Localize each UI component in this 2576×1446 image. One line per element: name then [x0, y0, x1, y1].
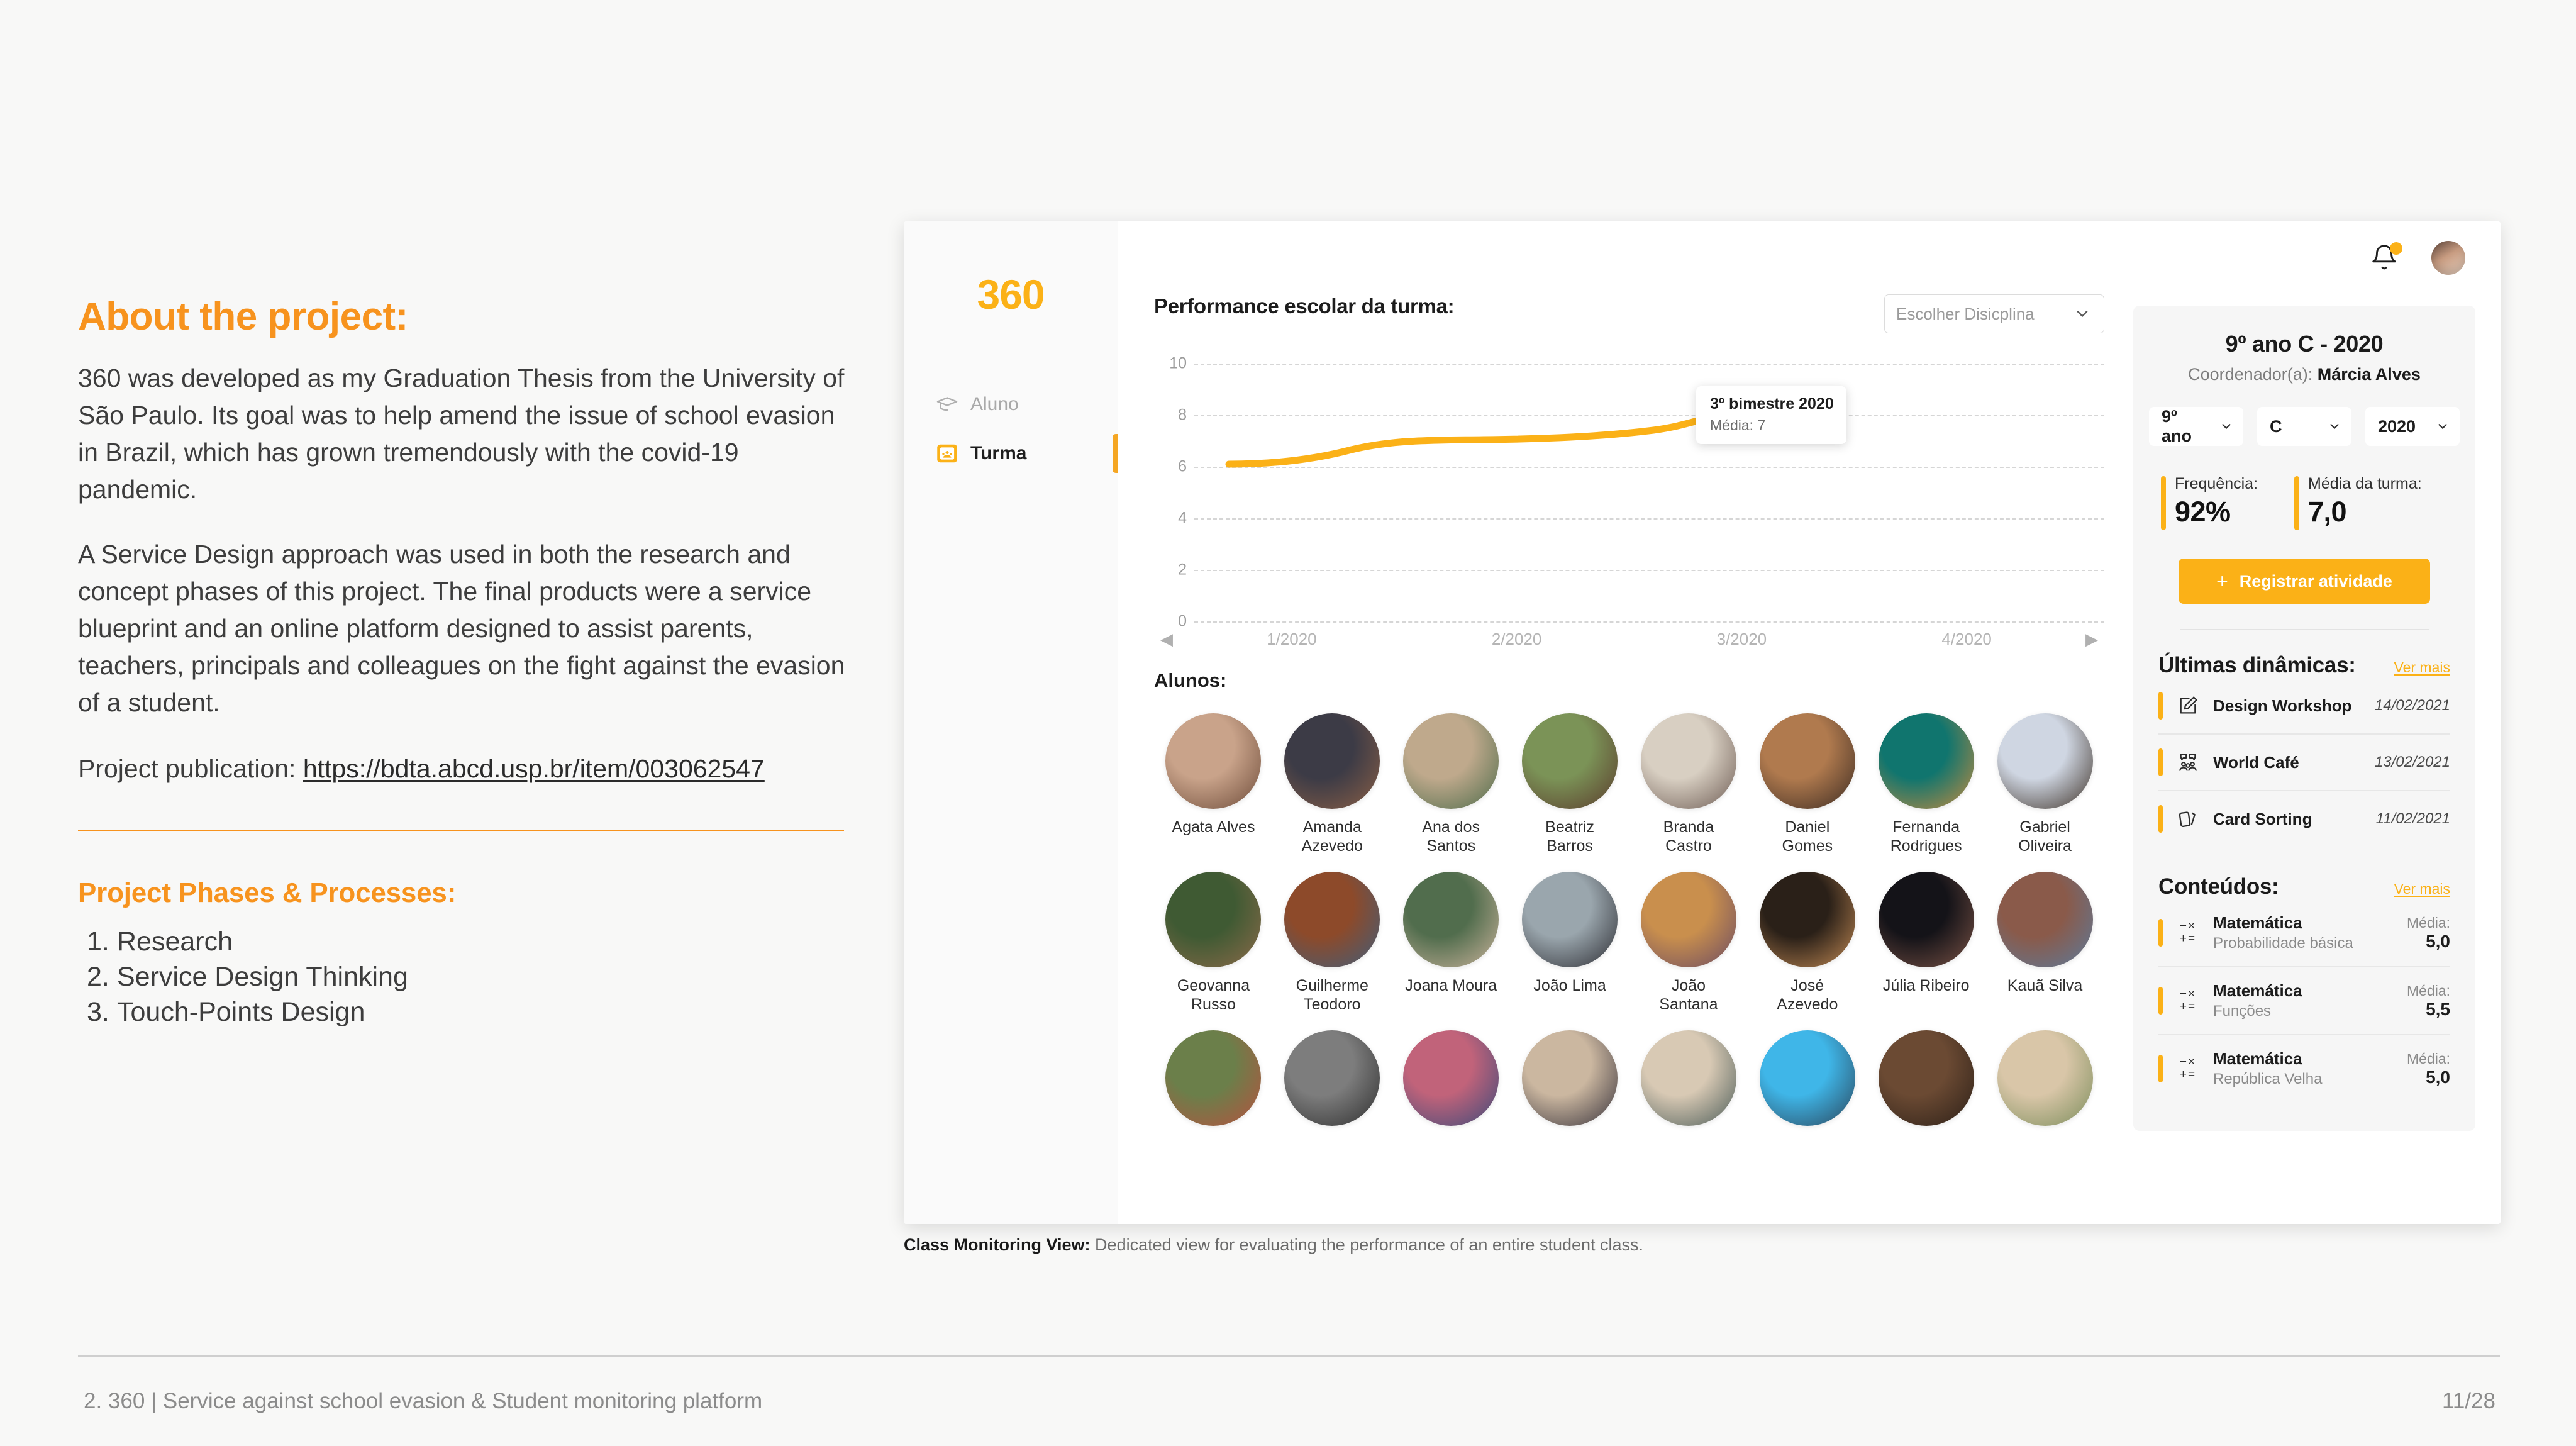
content-main: Matemática Probabilidade básica	[2213, 913, 2396, 952]
coordinator-name: Márcia Alves	[2318, 365, 2421, 384]
student-card[interactable]	[1511, 1030, 1629, 1135]
student-avatar	[1879, 872, 1974, 967]
performance-chart: 10 8 6 4 2 0	[1154, 360, 2104, 655]
stat-value: 92%	[2175, 496, 2258, 528]
dynamics-see-more-link[interactable]: Ver mais	[2394, 659, 2450, 676]
contents-block: Conteúdos: Ver mais −×+= Matemática Prob…	[2158, 847, 2450, 1102]
class-letter-select[interactable]: C	[2257, 407, 2351, 446]
student-avatar	[1760, 713, 1855, 809]
chart-title: Performance escolar da turma:	[1154, 294, 1454, 318]
publication-line: Project publication: https://bdta.abcd.u…	[78, 750, 858, 787]
student-avatar	[1403, 1030, 1499, 1126]
x-tick-label: 2/2020	[1404, 630, 1629, 649]
chevron-down-icon	[2436, 420, 2450, 433]
student-card[interactable]: Beatriz Barros	[1511, 713, 1629, 855]
average-label: Média:	[2407, 1050, 2450, 1067]
chart-x-axis: ◀ 1/2020 2/2020 3/2020 4/2020 ▶	[1154, 623, 2104, 655]
list-item[interactable]: −×+= Matemática Funções Média: 5,5	[2158, 967, 2450, 1035]
student-name: Branda Castro	[1641, 818, 1736, 855]
list-item[interactable]: Design Workshop 14/02/2021	[2158, 678, 2450, 735]
student-card[interactable]: Júlia Ribeiro	[1867, 872, 1985, 1014]
student-card[interactable]: Ana dos Santos	[1392, 713, 1511, 855]
dynamic-date: 14/02/2021	[2375, 697, 2450, 715]
student-card[interactable]	[1985, 1030, 2104, 1135]
student-avatar	[1641, 713, 1736, 809]
contents-header: Conteúdos: Ver mais	[2158, 874, 2450, 899]
student-avatar	[1760, 872, 1855, 967]
student-name: Kauã Silva	[2007, 976, 2083, 995]
tooltip-title: 3º bimestre 2020	[1710, 395, 1834, 413]
student-card[interactable]: José Azevedo	[1748, 872, 1867, 1014]
list-item-number: 3.	[87, 994, 109, 1030]
student-name: Agata Alves	[1172, 818, 1255, 837]
list-item: 1.Research	[78, 924, 858, 959]
student-avatar	[1997, 872, 2093, 967]
about-paragraph-1: 360 was developed as my Graduation Thesi…	[78, 360, 858, 508]
student-name: Guilherme Teodoro	[1285, 976, 1379, 1014]
app-content: Performance escolar da turma: Escolher D…	[1118, 294, 2501, 1135]
student-card[interactable]: Fernanda Rodrigues	[1867, 713, 1985, 855]
list-item: 2.Service Design Thinking	[78, 959, 858, 994]
chart-prev-button[interactable]: ◀	[1154, 630, 1179, 649]
y-axis-labels: 10 8 6 4 2 0	[1154, 360, 1187, 624]
group-chat-icon	[2174, 748, 2202, 776]
about-paragraph-2: A Service Design approach was used in bo…	[78, 536, 858, 721]
content-subject: Matemática	[2213, 1049, 2302, 1068]
figure-caption: Class Monitoring View: Dedicated view fo…	[904, 1235, 1643, 1255]
list-item[interactable]: −×+= Matemática Probabilidade básica Méd…	[2158, 899, 2450, 967]
x-axis-ticks: 1/2020 2/2020 3/2020 4/2020	[1179, 630, 2079, 649]
year-select[interactable]: 2020	[2365, 407, 2460, 446]
average-value: 5,5	[2426, 999, 2450, 1019]
stat-frequencia: Frequência: 92%	[2161, 475, 2258, 528]
content-main: Matemática República Velha	[2213, 1049, 2396, 1088]
row-accent-bar	[2158, 748, 2163, 776]
x-tick-label: 3/2020	[1629, 630, 1855, 649]
student-avatar	[1641, 1030, 1736, 1126]
student-name: João Lima	[1533, 976, 1606, 995]
register-activity-label: Registrar atividade	[2240, 572, 2392, 591]
stat-value: 7,0	[2308, 496, 2422, 528]
coordinator-label: Coordenador(a):	[2188, 365, 2312, 384]
list-item[interactable]: World Café 13/02/2021	[2158, 735, 2450, 791]
list-item-number: 2.	[87, 959, 109, 994]
student-name: Joana Moura	[1405, 976, 1497, 995]
avatar[interactable]	[2431, 241, 2465, 275]
student-avatar	[1641, 872, 1736, 967]
student-card[interactable]: Gabriel Oliveira	[1985, 713, 2104, 855]
row-accent-bar	[2158, 987, 2163, 1015]
graduation-cap-icon	[935, 392, 959, 416]
row-accent-bar	[2158, 1055, 2163, 1082]
class-coordinator: Coordenador(a): Márcia Alves	[2158, 365, 2450, 384]
list-item: 3.Touch-Points Design	[78, 994, 858, 1030]
dynamics-heading: Últimas dinâmicas:	[2158, 653, 2356, 678]
pencil-square-icon	[2174, 692, 2202, 720]
student-avatar	[1522, 713, 1618, 809]
chevron-down-icon	[2074, 305, 2091, 323]
student-avatar	[1879, 713, 1974, 809]
student-avatar	[1284, 872, 1380, 967]
student-card[interactable]	[1154, 1030, 1273, 1135]
register-activity-button[interactable]: + Registrar atividade	[2179, 559, 2430, 604]
student-avatar	[1997, 1030, 2093, 1126]
class-letter-select-value: C	[2270, 417, 2282, 437]
student-avatar	[1522, 872, 1618, 967]
student-avatar	[1760, 1030, 1855, 1126]
dynamics-header: Últimas dinâmicas: Ver mais	[2158, 653, 2450, 678]
chart-next-button[interactable]: ▶	[2079, 630, 2104, 649]
chart-tooltip: 3º bimestre 2020 Média: 7	[1696, 386, 1846, 444]
student-card[interactable]: Guilherme Teodoro	[1273, 872, 1392, 1014]
student-card[interactable]	[1629, 1030, 1748, 1135]
student-name: Daniel Gomes	[1760, 818, 1855, 855]
list-item-label: Service Design Thinking	[117, 962, 408, 992]
list-item-label: Touch-Points Design	[117, 997, 365, 1027]
student-avatar	[1403, 872, 1499, 967]
app-topbar	[1118, 221, 2501, 294]
content-topic: República Velha	[2213, 1071, 2396, 1088]
student-avatar	[1165, 872, 1261, 967]
tooltip-value: Média: 7	[1710, 417, 1834, 434]
class-summary-panel: 9º ano C - 2020 Coordenador(a): Márcia A…	[2133, 306, 2475, 1131]
sidebar-nav: Aluno Turma	[904, 380, 1118, 478]
dynamic-date: 11/02/2021	[2376, 810, 2450, 828]
stat-media-turma: Média da turma: 7,0	[2294, 475, 2422, 528]
content-topic: Probabilidade básica	[2213, 935, 2396, 952]
chart-line-series	[1194, 360, 1987, 624]
stat-label: Frequência:	[2175, 475, 2258, 493]
student-name: Gabriel Oliveira	[1998, 818, 2092, 855]
dynamic-title: World Café	[2213, 753, 2363, 772]
content-average: Média: 5,0	[2407, 1050, 2450, 1087]
stat-label: Média da turma:	[2308, 475, 2422, 493]
student-card[interactable]: Kauã Silva	[1985, 872, 2104, 1014]
students-grid: Agata AlvesAmanda AzevedoAna dos SantosB…	[1154, 713, 2104, 1135]
caption-bold: Class Monitoring View:	[904, 1235, 1091, 1254]
notification-badge-dot	[2390, 242, 2402, 255]
publication-link[interactable]: https://bdta.abcd.usp.br/item/003062547	[303, 754, 765, 783]
student-avatar	[1997, 713, 2093, 809]
phases-heading: Project Phases & Processes:	[78, 877, 858, 909]
discipline-select[interactable]: Escolher Disicplina	[1884, 294, 2104, 333]
footer-divider	[78, 1355, 2500, 1357]
page-number: 11/28	[2442, 1389, 2495, 1414]
row-accent-bar	[2158, 919, 2163, 947]
grade-select[interactable]: 9º ano	[2149, 407, 2243, 446]
dynamics-block: Últimas dinâmicas: Ver mais Design Works…	[2158, 630, 2450, 847]
list-item-number: 1.	[87, 924, 109, 959]
app-main: Performance escolar da turma: Escolher D…	[1118, 221, 2501, 1224]
content-main: Matemática Funções	[2213, 981, 2396, 1020]
math-ops-icon: −×+=	[2174, 919, 2202, 947]
student-card[interactable]	[1392, 1030, 1511, 1135]
student-card[interactable]: Joana Moura	[1392, 872, 1511, 1014]
grade-select-value: 9º ano	[2162, 407, 2212, 446]
app-mockup-screenshot: 360 Aluno	[904, 221, 2501, 1224]
class-stats: Frequência: 92% Média da turma: 7,0	[2158, 475, 2450, 528]
student-name: José Azevedo	[1760, 976, 1855, 1014]
student-name: Fernanda Rodrigues	[1879, 818, 1974, 855]
dynamic-title: Card Sorting	[2213, 809, 2365, 829]
student-avatar	[1165, 713, 1261, 809]
content-average: Média: 5,0	[2407, 915, 2450, 952]
app-logo: 360	[904, 270, 1118, 318]
student-card[interactable]	[1867, 1030, 1985, 1135]
student-card[interactable]: Branda Castro	[1629, 713, 1748, 855]
average-label: Média:	[2407, 982, 2450, 999]
student-name: Júlia Ribeiro	[1883, 976, 1970, 995]
discipline-select-value: Escolher Disicplina	[1896, 304, 2035, 324]
content-subject: Matemática	[2213, 981, 2302, 1000]
row-accent-bar	[2158, 805, 2163, 833]
orange-divider	[78, 830, 844, 831]
student-name: Geovanna Russo	[1166, 976, 1260, 1014]
x-tick-label: 1/2020	[1179, 630, 1404, 649]
year-select-value: 2020	[2378, 417, 2416, 437]
contents-heading: Conteúdos:	[2158, 874, 2279, 899]
student-avatar	[1879, 1030, 1974, 1126]
student-card[interactable]: Agata Alves	[1154, 713, 1273, 855]
publication-label: Project publication:	[78, 754, 303, 783]
student-card[interactable]: João Santana	[1629, 872, 1748, 1014]
student-avatar	[1284, 1030, 1380, 1126]
page-title: About the project:	[78, 296, 858, 338]
content-topic: Funções	[2213, 1003, 2396, 1020]
dynamic-title: Design Workshop	[2213, 696, 2363, 716]
student-card[interactable]: Geovanna Russo	[1154, 872, 1273, 1014]
math-ops-icon: −×+=	[2174, 1055, 2202, 1082]
class-filters: 9º ano C 2020	[2158, 407, 2450, 446]
student-card[interactable]: Daniel Gomes	[1748, 713, 1867, 855]
math-ops-icon: −×+=	[2174, 987, 2202, 1015]
student-name: Ana dos Santos	[1404, 818, 1498, 855]
chart-header: Performance escolar da turma: Escolher D…	[1154, 294, 2104, 333]
content-subject: Matemática	[2213, 913, 2302, 932]
class-board-icon	[935, 442, 959, 465]
chart-column: Performance escolar da turma: Escolher D…	[1118, 294, 2126, 1135]
y-tick-4: 4	[1178, 509, 1187, 528]
sidebar-item-turma[interactable]: Turma	[904, 429, 1118, 478]
list-item[interactable]: −×+= Matemática República Velha Média: 5…	[2158, 1035, 2450, 1102]
student-avatar	[1403, 713, 1499, 809]
student-name: Beatriz Barros	[1523, 818, 1617, 855]
phases-list: 1.Research 2.Service Design Thinking 3.T…	[78, 924, 858, 1030]
student-card[interactable]: Amanda Azevedo	[1273, 713, 1392, 855]
x-tick-label: 4/2020	[1854, 630, 2079, 649]
student-card[interactable]	[1273, 1030, 1392, 1135]
caption-rest: Dedicated view for evaluating the perfor…	[1091, 1235, 1644, 1254]
student-name: João Santana	[1641, 976, 1736, 1014]
student-name: Amanda Azevedo	[1285, 818, 1379, 855]
y-tick-6: 6	[1178, 458, 1187, 476]
list-item[interactable]: Card Sorting 11/02/2021	[2158, 791, 2450, 847]
app-sidebar: 360 Aluno	[904, 221, 1118, 1224]
contents-see-more-link[interactable]: Ver mais	[2394, 881, 2450, 898]
footer-title: 2. 360 | Service against school evasion …	[84, 1389, 762, 1414]
student-card[interactable]	[1748, 1030, 1867, 1135]
left-column: About the project: 360 was developed as …	[78, 296, 858, 1030]
cards-icon	[2174, 805, 2202, 833]
y-tick-10: 10	[1169, 355, 1187, 373]
student-avatar	[1165, 1030, 1261, 1126]
average-value: 5,0	[2426, 932, 2450, 951]
list-item-label: Research	[117, 926, 233, 957]
student-avatar	[1284, 713, 1380, 809]
content-average: Média: 5,5	[2407, 982, 2450, 1020]
y-tick-8: 8	[1178, 406, 1187, 425]
y-tick-2: 2	[1178, 561, 1187, 579]
row-accent-bar	[2158, 692, 2163, 720]
average-label: Média:	[2407, 915, 2450, 932]
student-avatar	[1522, 1030, 1618, 1126]
sidebar-item-label: Aluno	[970, 394, 1019, 415]
chevron-down-icon	[2219, 420, 2233, 433]
notifications-button[interactable]	[2370, 243, 2399, 272]
students-section-title: Alunos:	[1154, 669, 2104, 692]
class-info-column: 9º ano C - 2020 Coordenador(a): Márcia A…	[2126, 294, 2501, 1135]
chevron-down-icon	[2328, 420, 2341, 433]
dynamic-date: 13/02/2021	[2375, 754, 2450, 771]
sidebar-item-label: Turma	[970, 443, 1026, 464]
class-title: 9º ano C - 2020	[2158, 331, 2450, 357]
student-card[interactable]: João Lima	[1511, 872, 1629, 1014]
average-value: 5,0	[2426, 1067, 2450, 1087]
sidebar-item-aluno[interactable]: Aluno	[904, 380, 1118, 429]
slide: About the project: 360 was developed as …	[0, 0, 2576, 1446]
plus-icon: +	[2216, 570, 2228, 593]
